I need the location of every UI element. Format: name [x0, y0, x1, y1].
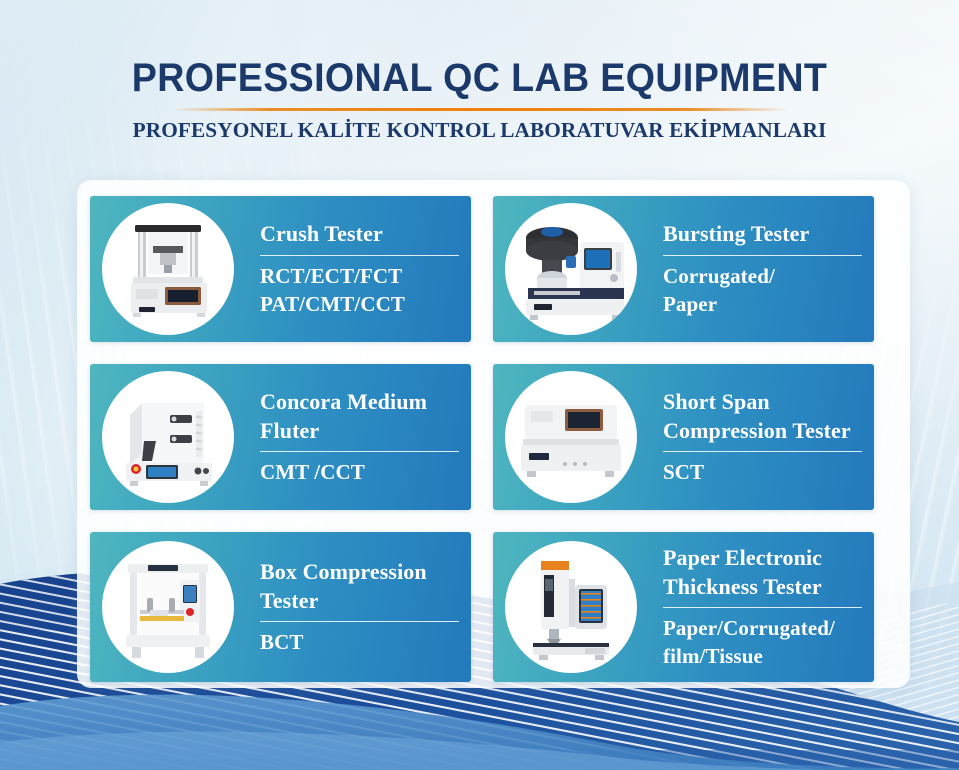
- card-text-block: Concora Medium Fluter CMT /CCT: [234, 387, 471, 487]
- card-text-block: Paper Electronic Thickness Tester Paper/…: [637, 543, 874, 671]
- card-text-block: Box Compression Tester BCT: [234, 557, 471, 657]
- crush-tester-icon: [113, 215, 223, 323]
- page-title: PROFESSIONAL QC LAB EQUIPMENT: [29, 56, 930, 101]
- page-subtitle: PROFESYONEL KALİTE KONTROL LABORATUVAR E…: [5, 118, 954, 143]
- card-divider: [260, 621, 459, 622]
- short-span-compression-tester-icon: [513, 391, 629, 483]
- card-spec: CMT /CCT: [260, 459, 459, 487]
- equipment-card-bursting-tester[interactable]: Bursting Tester Corrugated/ Paper: [493, 196, 874, 342]
- card-spec: Paper/Corrugated/ film/Tissue: [663, 615, 862, 671]
- paper-electronic-thickness-tester-icon: [515, 551, 627, 663]
- card-divider: [663, 451, 862, 452]
- concora-medium-fluter-machine-photo: [102, 371, 234, 503]
- equipment-card-paper-electronic-thickness-tester[interactable]: Paper Electronic Thickness Tester Paper/…: [493, 532, 874, 682]
- card-text-block: Bursting Tester Corrugated/ Paper: [637, 219, 874, 318]
- bursting-tester-icon: [514, 216, 628, 322]
- card-text-block: Short Span Compression Tester SCT: [637, 387, 874, 487]
- paper-electronic-thickness-tester-machine-photo: [505, 541, 637, 673]
- poster-header: PROFESSIONAL QC LAB EQUIPMENT PROFESYONE…: [0, 56, 959, 143]
- box-compression-tester-machine-photo: [102, 541, 234, 673]
- card-divider: [260, 451, 459, 452]
- card-divider: [663, 607, 862, 608]
- card-spec: BCT: [260, 629, 459, 657]
- title-divider: [172, 108, 788, 111]
- card-title: Box Compression Tester: [260, 557, 459, 616]
- card-divider: [260, 255, 459, 256]
- card-spec: Corrugated/ Paper: [663, 263, 862, 319]
- equipment-card-grid: Crush Tester RCT/ECT/FCT PAT/CMT/CCT: [90, 196, 895, 676]
- crush-tester-machine-photo: [102, 203, 234, 335]
- concora-medium-fluter-icon: [112, 385, 224, 489]
- equipment-card-box-compression-tester[interactable]: Box Compression Tester BCT: [90, 532, 471, 682]
- box-compression-tester-icon: [112, 552, 224, 662]
- card-title: Paper Electronic Thickness Tester: [663, 543, 862, 602]
- card-title: Concora Medium Fluter: [260, 387, 459, 446]
- equipment-card-short-span-compression-tester[interactable]: Short Span Compression Tester SCT: [493, 364, 874, 510]
- card-text-block: Crush Tester RCT/ECT/FCT PAT/CMT/CCT: [234, 219, 471, 318]
- card-title: Short Span Compression Tester: [663, 387, 862, 446]
- equipment-card-concora-medium-fluter[interactable]: Concora Medium Fluter CMT /CCT: [90, 364, 471, 510]
- card-divider: [663, 255, 862, 256]
- card-spec: RCT/ECT/FCT PAT/CMT/CCT: [260, 263, 459, 319]
- card-title: Bursting Tester: [663, 219, 862, 248]
- poster-root: PROFESSIONAL QC LAB EQUIPMENT PROFESYONE…: [0, 0, 959, 770]
- short-span-compression-tester-machine-photo: [505, 371, 637, 503]
- equipment-card-crush-tester[interactable]: Crush Tester RCT/ECT/FCT PAT/CMT/CCT: [90, 196, 471, 342]
- bursting-tester-machine-photo: [505, 203, 637, 335]
- card-spec: SCT: [663, 459, 862, 487]
- card-title: Crush Tester: [260, 219, 459, 248]
